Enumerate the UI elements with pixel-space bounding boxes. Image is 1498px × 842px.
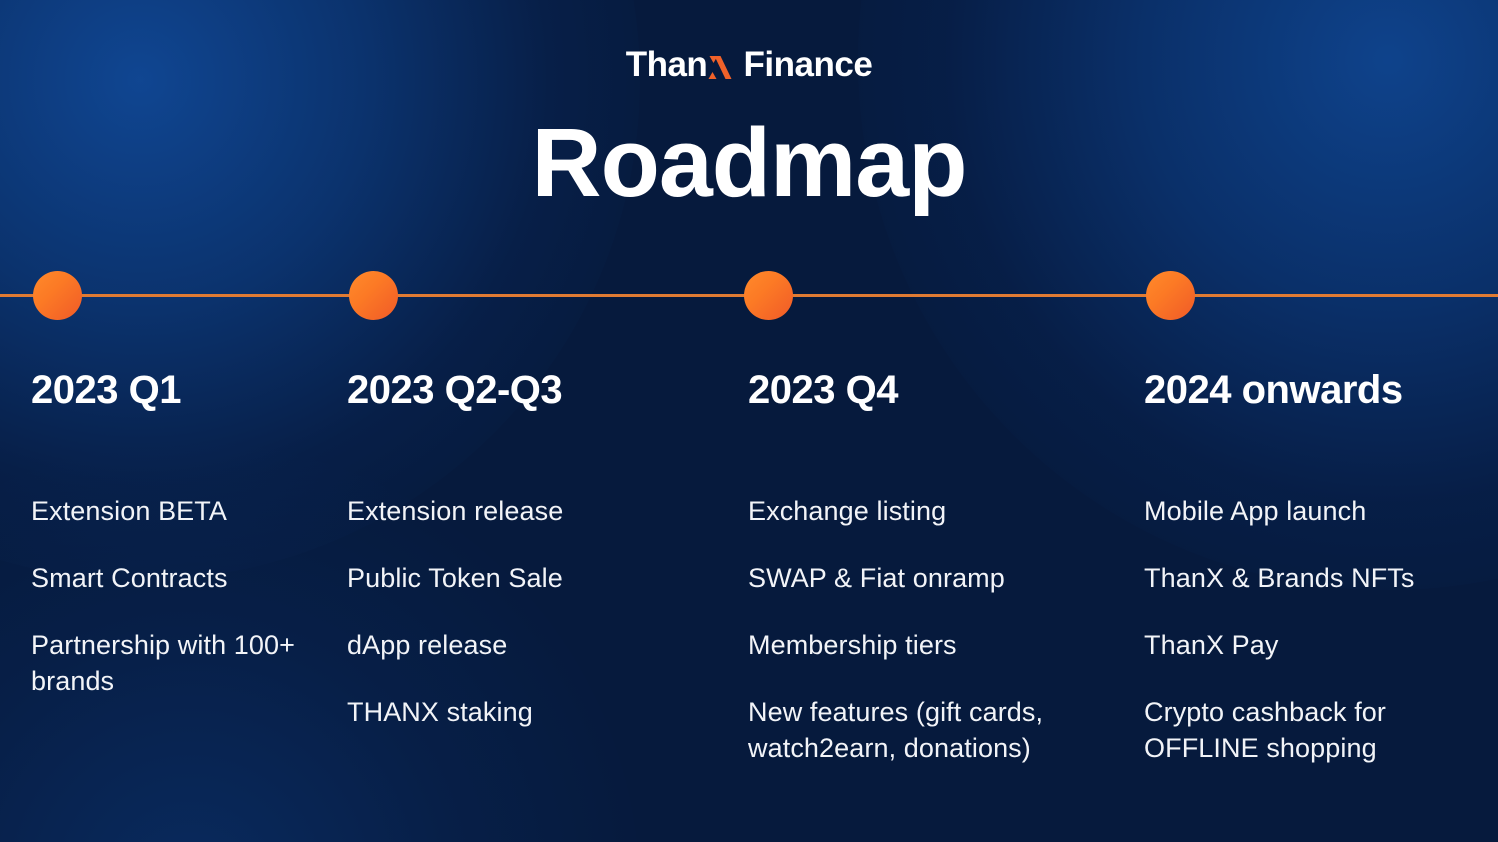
list-item: Extension BETA bbox=[31, 494, 331, 530]
timeline-dot-1[interactable] bbox=[33, 271, 82, 320]
list-item: Partnership with 100+ brands bbox=[31, 628, 331, 700]
x-letter-icon bbox=[707, 52, 733, 80]
column-item-list: Exchange listing SWAP & Fiat onramp Memb… bbox=[748, 494, 1108, 767]
list-item: Public Token Sale bbox=[347, 561, 727, 597]
timeline bbox=[0, 294, 1498, 297]
list-item: Mobile App launch bbox=[1144, 494, 1489, 530]
roadmap-column-2024-onwards: 2024 onwards Mobile App launch ThanX & B… bbox=[1144, 368, 1489, 767]
column-heading: 2024 onwards bbox=[1144, 368, 1489, 412]
list-item: SWAP & Fiat onramp bbox=[748, 561, 1108, 597]
column-heading: 2023 Q4 bbox=[748, 368, 1108, 412]
brand-logo-text-after: Finance bbox=[734, 45, 872, 84]
roadmap-column-2023-q2-q3: 2023 Q2-Q3 Extension release Public Toke… bbox=[347, 368, 727, 731]
timeline-dot-4[interactable] bbox=[1146, 271, 1195, 320]
timeline-dot-3[interactable] bbox=[744, 271, 793, 320]
list-item: ThanX Pay bbox=[1144, 628, 1489, 664]
list-item: dApp release bbox=[347, 628, 727, 664]
list-item: THANX staking bbox=[347, 695, 727, 731]
list-item: Crypto cashback for OFFLINE shopping bbox=[1144, 695, 1489, 767]
page-title: Roadmap bbox=[0, 112, 1498, 214]
column-item-list: Extension BETA Smart Contracts Partnersh… bbox=[31, 494, 331, 700]
list-item: ThanX & Brands NFTs bbox=[1144, 561, 1489, 597]
roadmap-slide: Than Finance Roadmap 2023 Q1 Extension B… bbox=[0, 0, 1498, 842]
roadmap-column-2023-q1: 2023 Q1 Extension BETA Smart Contracts P… bbox=[31, 368, 331, 700]
brand-logo: Than Finance bbox=[0, 47, 1498, 82]
column-item-list: Mobile App launch ThanX & Brands NFTs Th… bbox=[1144, 494, 1489, 767]
column-item-list: Extension release Public Token Sale dApp… bbox=[347, 494, 727, 731]
brand-logo-text-before: Than bbox=[626, 45, 708, 84]
column-heading: 2023 Q1 bbox=[31, 368, 331, 412]
roadmap-column-2023-q4: 2023 Q4 Exchange listing SWAP & Fiat onr… bbox=[748, 368, 1108, 767]
roadmap-columns: 2023 Q1 Extension BETA Smart Contracts P… bbox=[0, 368, 1498, 828]
column-heading: 2023 Q2-Q3 bbox=[347, 368, 727, 412]
list-item: New features (gift cards, watch2earn, do… bbox=[748, 695, 1108, 767]
list-item: Exchange listing bbox=[748, 494, 1108, 530]
list-item: Membership tiers bbox=[748, 628, 1108, 664]
list-item: Extension release bbox=[347, 494, 727, 530]
list-item: Smart Contracts bbox=[31, 561, 331, 597]
timeline-dot-2[interactable] bbox=[349, 271, 398, 320]
